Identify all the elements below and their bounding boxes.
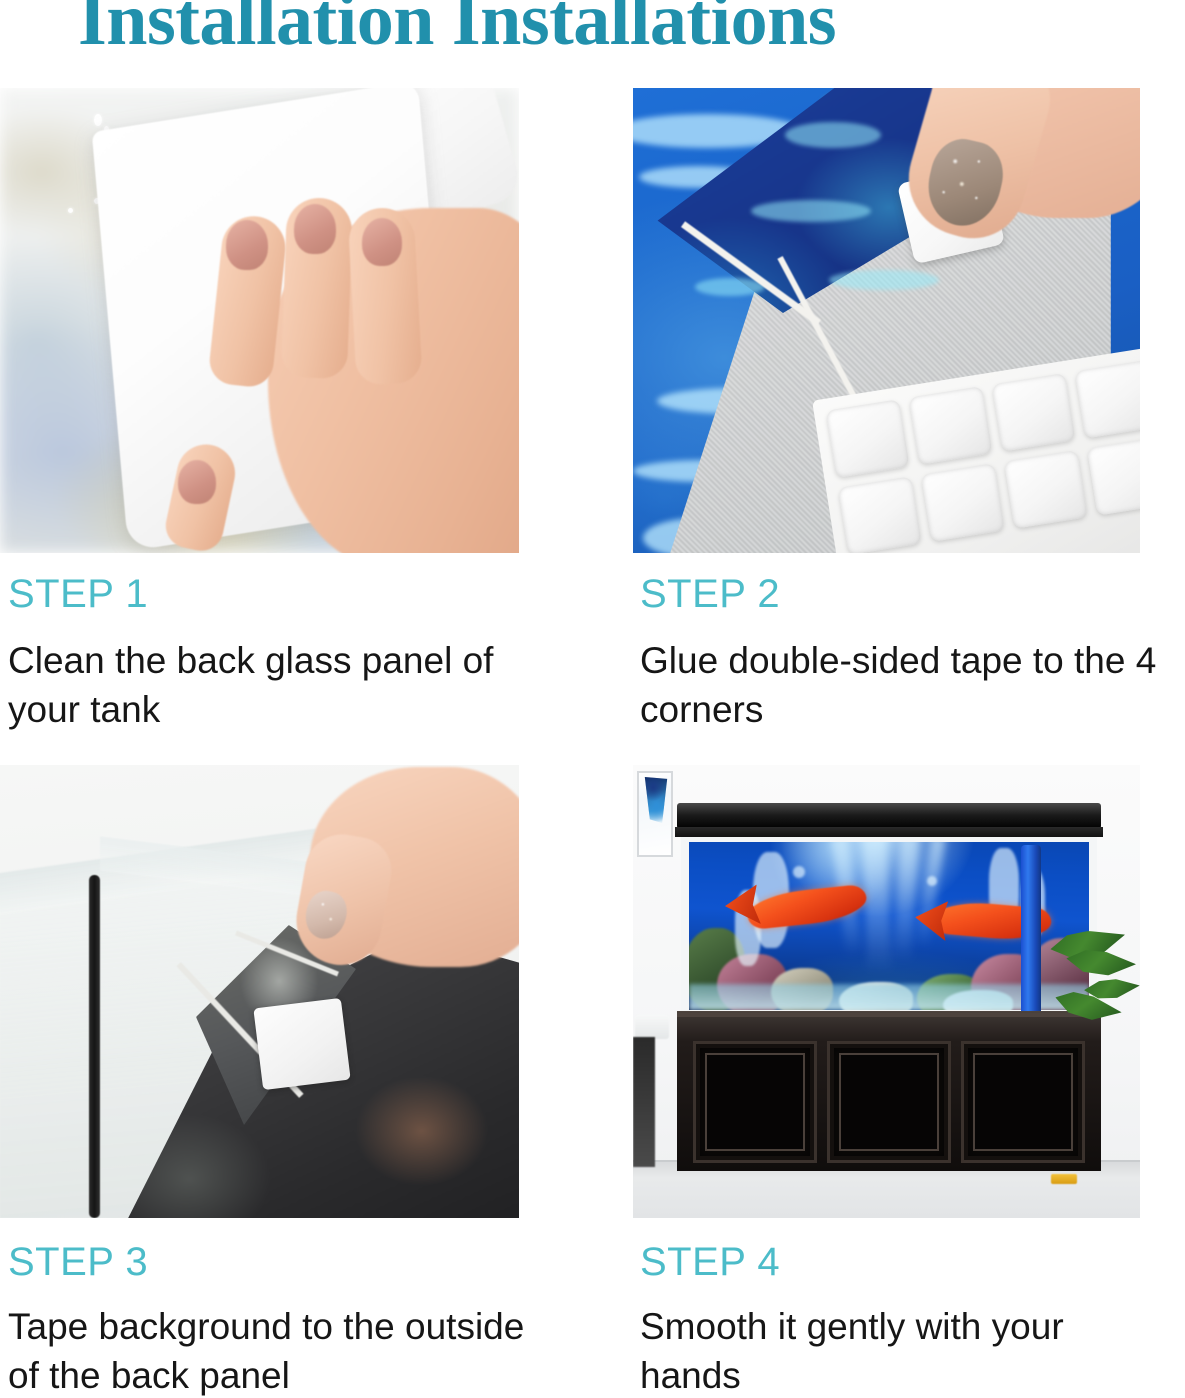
step-3-photo: [0, 765, 519, 1218]
framed-wall-art: [637, 771, 673, 857]
tape-pad: [909, 386, 993, 465]
fingernail: [362, 218, 402, 266]
tape-pad: [992, 373, 1076, 452]
droplet: [94, 114, 102, 126]
step-3-description: Tape background to the outside of the ba…: [8, 1302, 528, 1398]
tape-pad: [1004, 450, 1088, 529]
tape-pad: [1075, 360, 1140, 439]
tape-square-on-poster: [253, 998, 350, 1090]
step-2-description: Glue double-sided tape to the 4 corners: [640, 636, 1160, 734]
step-1-label: STEP 1: [8, 572, 148, 617]
cabinet-door-middle[interactable]: [827, 1041, 951, 1163]
fingernail: [226, 220, 268, 270]
step-1-description: Clean the back glass panel of your tank: [8, 636, 528, 734]
step-4-description: Smooth it gently with your hands: [640, 1302, 1160, 1398]
bubble: [793, 866, 805, 878]
droplet: [68, 208, 73, 213]
floor-accent-object: [1051, 1174, 1077, 1184]
step-4-label: STEP 4: [640, 1240, 780, 1285]
installation-guide-page: Installation Installations: [0, 0, 1185, 1398]
fingernail: [178, 460, 216, 504]
cabinet-door-panel: [839, 1053, 939, 1151]
tank-corner-trim: [89, 875, 100, 1218]
wall-art-graphic: [642, 777, 670, 823]
poster-pattern: [829, 270, 939, 290]
tape-pad: [921, 463, 1005, 542]
step-1-photo: [0, 88, 519, 553]
side-furniture-body: [633, 1037, 655, 1167]
aquarium-hood: [677, 803, 1101, 829]
bubble: [927, 876, 937, 886]
tape-pad: [838, 476, 922, 553]
step-4-photo: [633, 765, 1140, 1218]
blue-filter-tube: [1021, 845, 1041, 1015]
cabinet-door-panel: [705, 1053, 805, 1151]
poster-pattern: [785, 122, 881, 148]
step-3-label: STEP 3: [8, 1240, 148, 1285]
poster-pattern: [751, 200, 871, 222]
aquarium-cabinet-stand: [677, 1013, 1101, 1171]
page-title: Installation Installations: [78, 0, 836, 58]
house-plant: [1044, 927, 1140, 1077]
light-ray: [863, 842, 892, 972]
side-furniture-top: [635, 1015, 669, 1039]
tape-pad: [1087, 437, 1140, 516]
step-2-photo: [633, 88, 1140, 553]
tape-pad: [826, 399, 910, 478]
aquarium-hood-lip: [675, 827, 1103, 837]
step-2-label: STEP 2: [640, 572, 780, 617]
page-title-bar: Installation Installations: [0, 0, 1185, 88]
cabinet-door-left[interactable]: [693, 1041, 817, 1163]
fingernail: [294, 204, 336, 254]
